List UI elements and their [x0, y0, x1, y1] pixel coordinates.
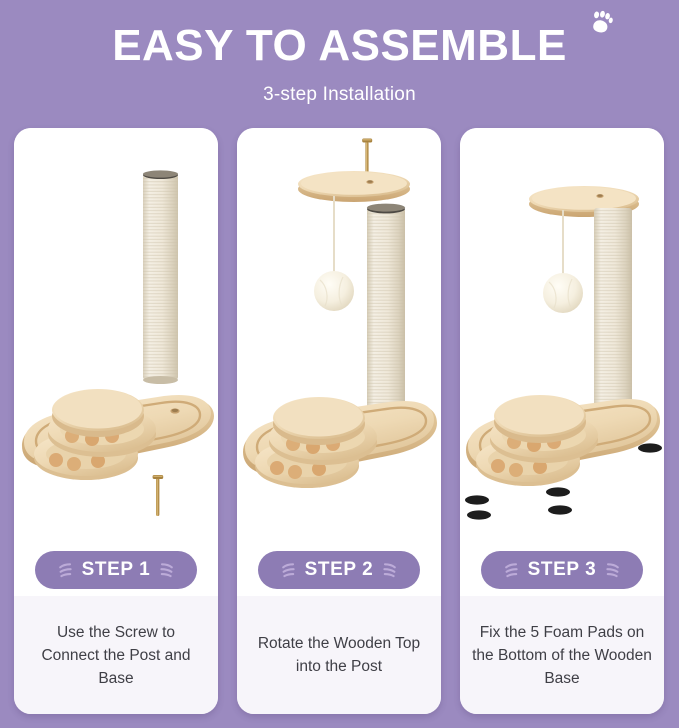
pom-pom-ball: [543, 210, 583, 313]
step-badge-2: STEP 2: [258, 551, 420, 589]
screw: [362, 139, 372, 177]
step-3-illustration: [460, 128, 664, 523]
wooden-base: [466, 395, 660, 486]
screw: [153, 475, 164, 516]
foam-pad: [638, 443, 662, 452]
steps-container: STEP 1 Use the Screw to Connect the Post…: [0, 128, 679, 718]
step-2-art: [237, 128, 441, 523]
step-1-caption-zone: Use the Screw to Connect the Post and Ba…: [14, 596, 218, 714]
step-caption: Use the Screw to Connect the Post and Ba…: [26, 621, 206, 690]
wooden-base: [243, 397, 437, 488]
claw-scratch-icon: [58, 561, 73, 579]
title-row: EASY TO ASSEMBLE: [0, 20, 679, 72]
step-card-1: STEP 1 Use the Screw to Connect the Post…: [14, 128, 218, 714]
foam-pad: [548, 505, 572, 514]
paw-print-icon: [588, 10, 614, 36]
step-card-3: STEP 3 Fix the 5 Foam Pads on the Bottom…: [460, 128, 664, 714]
assembled-scratcher: [466, 186, 660, 486]
pom-pom-ball: [314, 196, 354, 311]
wooden-top-disc: [298, 171, 410, 202]
claw-scratch-icon: [281, 561, 296, 579]
sisal-post: [594, 208, 632, 424]
claw-scratch-icon: [605, 561, 620, 579]
claw-scratch-icon: [382, 561, 397, 579]
claw-scratch-icon: [159, 561, 174, 579]
step-badge-3: STEP 3: [481, 551, 643, 589]
step-badge-label: STEP 3: [528, 559, 597, 581]
foam-pad: [467, 510, 491, 519]
sisal-post: [367, 204, 405, 425]
step-1-illustration: [14, 128, 218, 523]
claw-scratch-icon: [504, 561, 519, 579]
step-badge-label: STEP 1: [82, 559, 151, 581]
step-2-caption-zone: Rotate the Wooden Top into the Post: [237, 596, 441, 714]
step-3-art: [460, 128, 664, 523]
step-caption: Rotate the Wooden Top into the Post: [249, 632, 429, 678]
step-badge-label: STEP 2: [305, 559, 374, 581]
sisal-post: [143, 170, 178, 384]
step-caption: Fix the 5 Foam Pads on the Bottom of the…: [472, 621, 652, 690]
page-subtitle: 3-step Installation: [0, 84, 679, 106]
header-banner: EASY TO ASSEMBLE 3-step Installation: [0, 0, 679, 118]
wooden-base: [22, 389, 214, 480]
foam-pad: [465, 495, 489, 504]
step-card-2: STEP 2 Rotate the Wooden Top into the Po…: [237, 128, 441, 714]
foam-pad: [546, 487, 570, 496]
step-1-art: [14, 128, 218, 523]
page-title: EASY TO ASSEMBLE: [112, 20, 567, 72]
step-3-caption-zone: Fix the 5 Foam Pads on the Bottom of the…: [460, 596, 664, 714]
step-badge-1: STEP 1: [35, 551, 197, 589]
step-2-illustration: [237, 128, 441, 523]
